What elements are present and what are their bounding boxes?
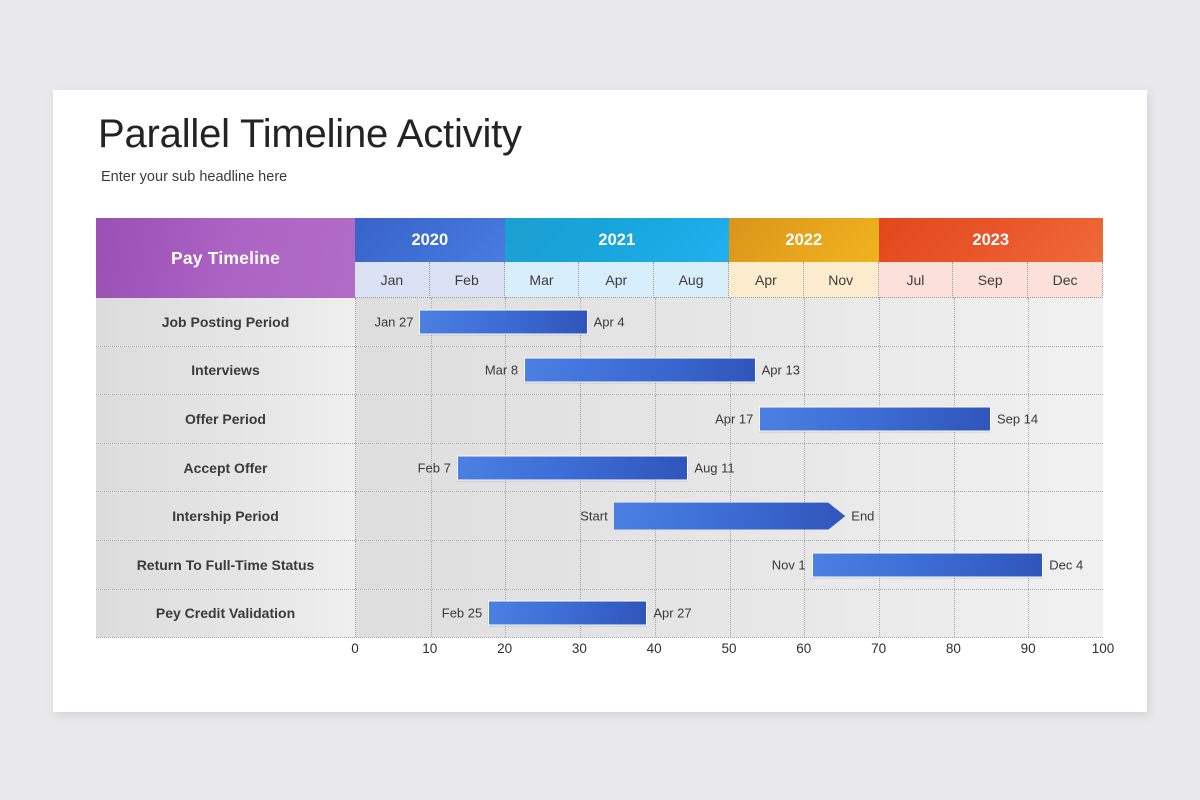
axis-tick-label: 60	[796, 641, 811, 656]
month-group-2020: JanFeb	[355, 262, 505, 298]
month-cell-2021-Apr: Apr	[579, 262, 654, 298]
gridline	[879, 492, 880, 540]
gridline	[804, 590, 805, 638]
gantt-row: Intership PeriodStartEnd	[96, 492, 1103, 541]
year-area: 2020202120222023 JanFebMarAprAugAprNovJu…	[355, 218, 1103, 298]
gridline	[505, 492, 506, 540]
year-header-2020: 2020	[355, 218, 505, 262]
gantt-row: Offer PeriodApr 17Sep 14	[96, 395, 1103, 444]
year-label: 2022	[785, 231, 822, 250]
month-group-2022: AprNov	[729, 262, 879, 298]
year-label: 2023	[972, 231, 1009, 250]
gantt-bar-end-label: End	[851, 509, 874, 524]
gantt-row-track: Feb 25Apr 27	[355, 590, 1103, 638]
gridline	[804, 298, 805, 346]
gridline	[580, 541, 581, 589]
gridline	[580, 395, 581, 443]
x-axis: 0102030405060708090100	[355, 638, 1103, 664]
gantt-row-label: Job Posting Period	[96, 298, 355, 346]
gridline	[730, 298, 731, 346]
gridline	[431, 541, 432, 589]
gridline	[505, 541, 506, 589]
month-cell-2020-Jan: Jan	[355, 262, 430, 298]
gridline	[1028, 298, 1029, 346]
month-group-2021: MarAprAug	[505, 262, 729, 298]
gridline	[954, 492, 955, 540]
gantt-row: Accept OfferFeb 7Aug 11	[96, 444, 1103, 493]
gridline	[431, 492, 432, 540]
gantt-row-label: Pey Credit Validation	[96, 590, 355, 638]
gantt-bar-end-label: Sep 14	[997, 411, 1038, 426]
month-cell-2023-Dec: Dec	[1028, 262, 1103, 298]
month-cell-2023-Sep: Sep	[953, 262, 1028, 298]
gantt-bar-end-label: Apr 13	[762, 363, 800, 378]
gantt-row-track: Apr 17Sep 14	[355, 395, 1103, 443]
gantt-bar-start-label: Feb 25	[442, 606, 482, 621]
gridline	[730, 590, 731, 638]
gantt-row-track: Feb 7Aug 11	[355, 444, 1103, 492]
gantt-row-label: Interviews	[96, 347, 355, 395]
gridline	[1028, 492, 1029, 540]
gantt-bar-start-label: Mar 8	[485, 363, 518, 378]
gantt-row: Return To Full-Time StatusNov 1Dec 4	[96, 541, 1103, 590]
gridline	[730, 541, 731, 589]
axis-tick-label: 10	[422, 641, 437, 656]
gantt-bar-start-label: Start	[580, 509, 607, 524]
gantt-bar-start-label: Apr 17	[715, 411, 753, 426]
title-block: Parallel Timeline Activity Enter your su…	[98, 112, 522, 185]
month-cell-2023-Jul: Jul	[879, 262, 954, 298]
gantt-row-label: Offer Period	[96, 395, 355, 443]
month-cell-2021-Mar: Mar	[505, 262, 580, 298]
axis-tick-label: 40	[647, 641, 662, 656]
gridline	[954, 347, 955, 395]
gridline	[954, 298, 955, 346]
year-label: 2021	[598, 231, 635, 250]
gantt-row-track: Jan 27Apr 4	[355, 298, 1103, 346]
gantt-bar-end-label: Apr 4	[594, 314, 625, 329]
gridline	[954, 590, 955, 638]
slide-card: Parallel Timeline Activity Enter your su…	[53, 90, 1147, 712]
gantt-bar-end-label: Apr 27	[653, 606, 691, 621]
month-group-2023: JulSepDec	[879, 262, 1103, 298]
axis-tick-label: 30	[572, 641, 587, 656]
month-row: JanFebMarAprAugAprNovJulSepDec	[355, 262, 1103, 298]
page-title: Parallel Timeline Activity	[98, 112, 522, 156]
year-header-2023: 2023	[879, 218, 1103, 262]
gantt-row: InterviewsMar 8Apr 13	[96, 347, 1103, 396]
gantt-bar[interactable]	[419, 309, 587, 334]
gridline	[879, 347, 880, 395]
gridline	[954, 444, 955, 492]
axis-tick-label: 70	[871, 641, 886, 656]
gridline	[431, 590, 432, 638]
gantt-bar-end-label: Dec 4	[1049, 557, 1083, 572]
gantt-row: Job Posting PeriodJan 27Apr 4	[96, 298, 1103, 347]
gantt-bar[interactable]	[488, 601, 647, 626]
gridline	[505, 395, 506, 443]
gantt-row: Pey Credit ValidationFeb 25Apr 27	[96, 590, 1103, 639]
year-label: 2020	[411, 231, 448, 250]
page-subtitle: Enter your sub headline here	[101, 169, 522, 185]
gantt-bar[interactable]	[759, 406, 991, 431]
gantt-bar-start-label: Nov 1	[772, 557, 806, 572]
gridline	[655, 298, 656, 346]
gantt-row-label: Accept Offer	[96, 444, 355, 492]
gantt-body: Job Posting PeriodJan 27Apr 4InterviewsM…	[96, 298, 1103, 638]
axis-tick-label: 0	[351, 641, 359, 656]
gridline	[879, 590, 880, 638]
month-cell-2022-Nov: Nov	[804, 262, 879, 298]
year-row: 2020202120222023	[355, 218, 1103, 262]
gridline	[1028, 347, 1029, 395]
gantt-row-label: Intership Period	[96, 492, 355, 540]
gantt-bar[interactable]	[524, 358, 756, 383]
gantt-row-track: Mar 8Apr 13	[355, 347, 1103, 395]
gantt-bar-start-label: Feb 7	[418, 460, 451, 475]
gridline	[879, 298, 880, 346]
gridline	[879, 444, 880, 492]
month-cell-2022-Apr: Apr	[729, 262, 804, 298]
axis-tick-label: 80	[946, 641, 961, 656]
gridline	[655, 395, 656, 443]
axis-tick-label: 50	[721, 641, 736, 656]
month-cell-2020-Feb: Feb	[430, 262, 505, 298]
year-header-2021: 2021	[505, 218, 729, 262]
gantt-row-label: Return To Full-Time Status	[96, 541, 355, 589]
gantt-bar[interactable]	[812, 552, 1044, 577]
year-header-2022: 2022	[729, 218, 879, 262]
axis-tick-label: 20	[497, 641, 512, 656]
gantt-row-track: Nov 1Dec 4	[355, 541, 1103, 589]
axis-tick-label: 90	[1021, 641, 1036, 656]
gridline	[1028, 444, 1029, 492]
gantt-bar-start-label: Jan 27	[374, 314, 413, 329]
gantt-row-track: StartEnd	[355, 492, 1103, 540]
month-cell-2021-Aug: Aug	[654, 262, 729, 298]
gantt-chart: Pay Timeline 2020202120222023 JanFebMarA…	[96, 218, 1103, 630]
gridline	[804, 347, 805, 395]
pay-timeline-header-cell: Pay Timeline	[96, 218, 355, 298]
gantt-bar[interactable]	[457, 455, 689, 480]
gridline	[431, 395, 432, 443]
gridline	[655, 541, 656, 589]
pay-timeline-label: Pay Timeline	[171, 248, 280, 269]
gantt-bar[interactable]	[614, 503, 846, 530]
gridline	[431, 347, 432, 395]
gridline	[804, 444, 805, 492]
gridline	[1028, 590, 1029, 638]
axis-tick-label: 100	[1092, 641, 1115, 656]
gantt-bar-end-label: Aug 11	[694, 460, 734, 475]
gantt-header: Pay Timeline 2020202120222023 JanFebMarA…	[96, 218, 1103, 298]
